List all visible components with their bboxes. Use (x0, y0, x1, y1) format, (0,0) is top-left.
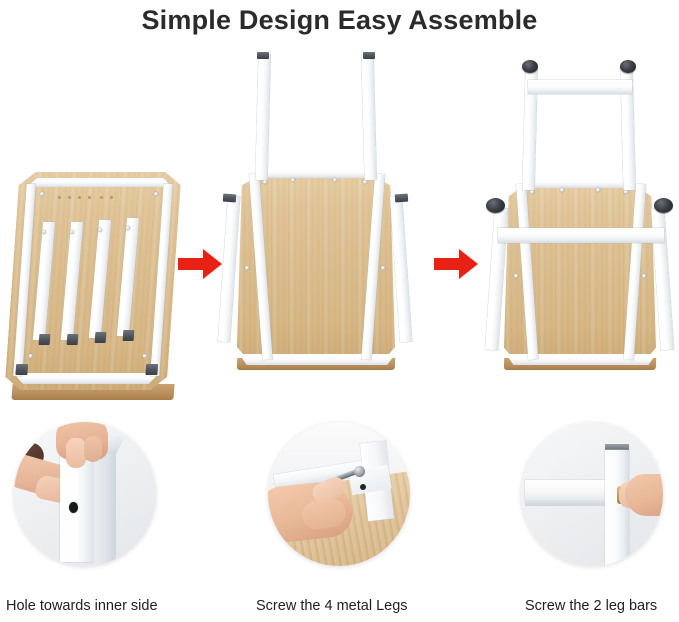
screw-head (354, 466, 365, 477)
leg-rear-right (361, 54, 376, 180)
foot-cap-rear-right (620, 60, 636, 73)
assembly-steps-row (0, 46, 679, 396)
page-title: Simple Design Easy Assemble (0, 0, 679, 40)
foot-cap-front-left (486, 198, 505, 213)
leg-bar-underside (525, 500, 609, 506)
detail-photo-screw-metal-legs (268, 422, 410, 566)
leg-bar (525, 480, 609, 502)
assembly-instruction-page: Simple Design Easy Assemble (0, 0, 679, 622)
leg-post (605, 450, 629, 566)
leg-rear-left (255, 54, 270, 180)
white-frame (496, 178, 664, 366)
upper-finger-2 (84, 436, 102, 462)
step-1-illustration (0, 46, 190, 396)
caption-detail-3: Screw the 2 leg bars (525, 598, 657, 614)
leg-tube-side-face (94, 452, 116, 566)
upper-finger-1 (66, 438, 86, 468)
leg-2-tube-end (67, 334, 79, 345)
leg-hole (69, 502, 78, 513)
white-frame (229, 168, 403, 366)
detail-photo-hole-towards-inner-side (14, 422, 156, 566)
leg-3-tube-end (95, 332, 107, 343)
leg-bar-1 (528, 80, 632, 94)
caption-detail-1: Hole towards inner side (6, 598, 158, 614)
leg-rear-left-open-end (257, 52, 269, 59)
step-arrow-2-icon (432, 245, 480, 283)
foot-cap-front-right (654, 198, 673, 213)
leg-rear-right-open-end (363, 52, 375, 59)
leg-front-right-open-end (395, 194, 409, 203)
detail-photos-row (0, 418, 679, 570)
detail-photo-screw-leg-bars (521, 422, 663, 566)
leg-1-tube-end (39, 334, 51, 345)
working-hand (625, 474, 663, 516)
leg-bar-2 (498, 228, 664, 243)
step-3-illustration (480, 46, 679, 396)
board-hole-row (58, 196, 120, 200)
leg-4-tube-end (123, 330, 135, 341)
detail-captions-row: Hole towards inner side Screw the 4 meta… (0, 598, 679, 622)
screw-hole (360, 484, 366, 490)
leg-front-left-open-end (223, 194, 237, 203)
foot-cap-rear-left (522, 60, 538, 73)
step-2-illustration (215, 46, 415, 396)
caption-detail-2: Screw the 4 metal Legs (256, 598, 408, 614)
